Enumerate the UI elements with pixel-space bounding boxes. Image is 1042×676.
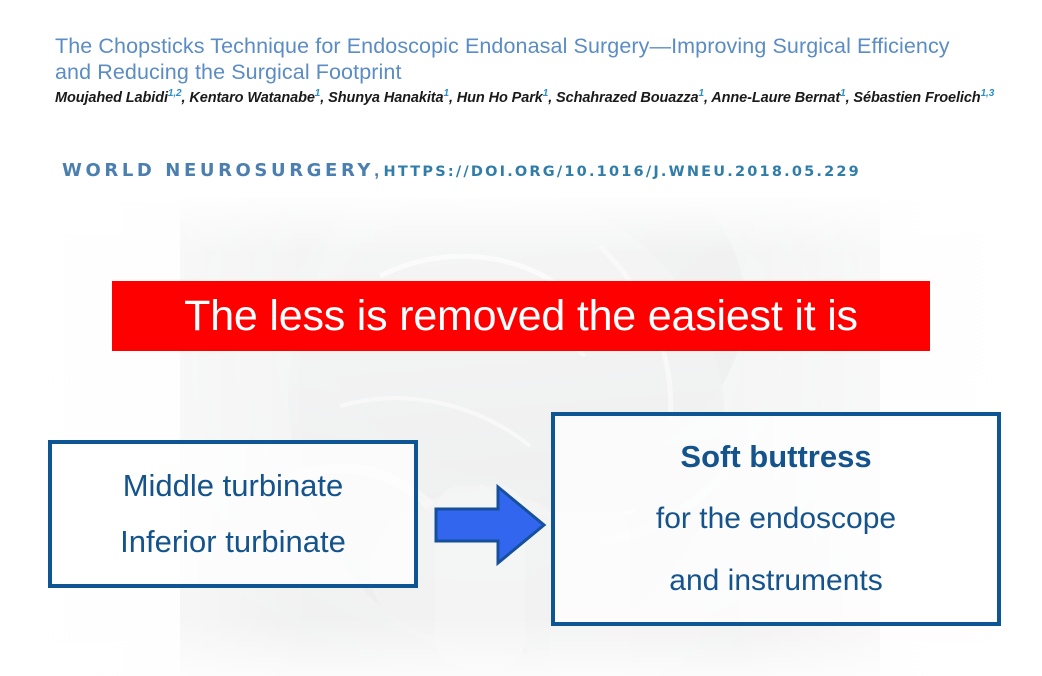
arrow-right-icon xyxy=(432,483,548,567)
journal-separator: , xyxy=(374,160,379,180)
doi-link[interactable]: HTTPS://DOI.ORG/10.1016/J.WNEU.2018.05.2… xyxy=(384,164,861,180)
citation-header: The Chopsticks Technique for Endoscopic … xyxy=(0,0,1042,198)
soft-buttress-line-3: and instruments xyxy=(669,550,882,612)
slide-canvas: The Chopsticks Technique for Endoscopic … xyxy=(0,0,1042,676)
page-title: The Chopsticks Technique for Endoscopic … xyxy=(55,33,985,85)
journal-name: WORLD NEUROSURGERY xyxy=(62,160,374,181)
headline-banner: The less is removed the easiest it is xyxy=(112,281,930,351)
journal-citation: WORLD NEUROSURGERY, HTTPS://DOI.ORG/10.1… xyxy=(62,160,1022,181)
soft-buttress-box: Soft buttress for the endoscope and inst… xyxy=(551,412,1001,626)
soft-buttress-line-2: for the endoscope xyxy=(656,488,896,550)
turbinates-box: Middle turbinate Inferior turbinate xyxy=(48,440,418,588)
headline-banner-text: The less is removed the easiest it is xyxy=(184,293,858,339)
soft-buttress-line-1: Soft buttress xyxy=(680,426,871,488)
author-list: Moujahed Labidi1,2, Kentaro Watanabe1, S… xyxy=(55,88,1000,108)
turbinates-line-1: Middle turbinate xyxy=(123,458,344,514)
turbinates-line-2: Inferior turbinate xyxy=(120,514,346,570)
